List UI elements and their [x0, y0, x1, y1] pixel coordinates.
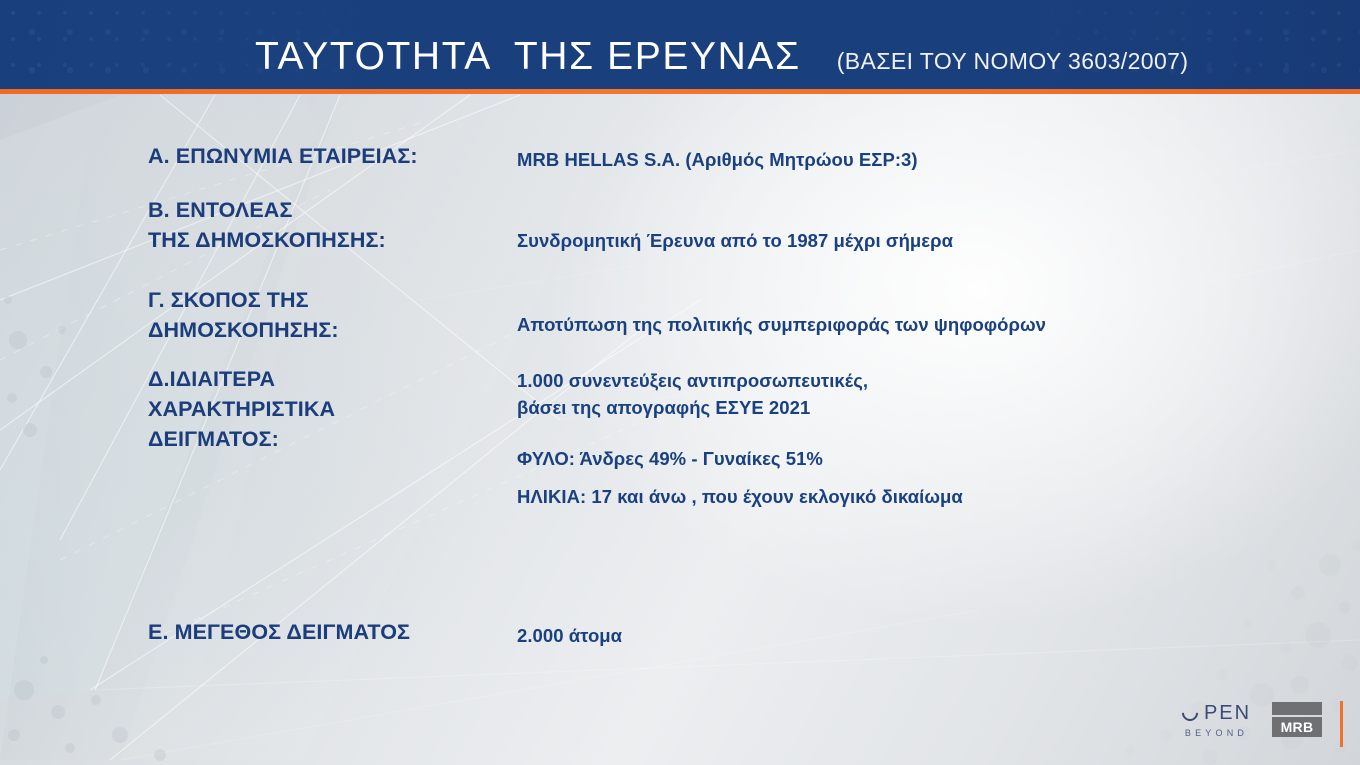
mrb-logo-bar: [1272, 702, 1322, 715]
page-subtitle: (ΒΑΣΕΙ ΤΟΥ ΝΟΜΟΥ 3603/2007): [837, 50, 1189, 73]
open-letters: PEN: [1204, 702, 1251, 725]
row-label-client: Β. ΕΝΤΟΛΕΑΣ ΤΗΣ ΔΗΜΟΣΚΟΠΗΣΗΣ:: [148, 195, 386, 255]
row-label-company: Α. ΕΠΩΝΥΜΙΑ ΕΤΑΙΡΕΙΑΣ:: [148, 141, 418, 171]
open-o-icon: [1179, 702, 1202, 725]
row-label-sample-characteristics: Δ.ΙΔΙΑΙΤΕΡΑ ΧΑΡΑΚΤΗΡΙΣΤΙΚΑ ΔΕΙΓΜΑΤΟΣ:: [148, 364, 335, 454]
content-area: Α. ΕΠΩΝΥΜΙΑ ΕΤΑΙΡΕΙΑΣ: MRB HELLAS S.A. (…: [0, 89, 1360, 765]
header-title-group: ΤΑΥΤΟΤΗΤΑ ΤΗΣ ΕΡΕΥΝΑΣ (ΒΑΣΕΙ ΤΟΥ ΝΟΜΟΥ 3…: [255, 37, 1188, 76]
logo-group: PEN BEYOND MRB: [1150, 694, 1350, 756]
row-value-sample-characteristics: 1.000 συνεντεύξεις αντιπροσωπευτικές, βά…: [517, 367, 868, 421]
row-value-company: MRB HELLAS S.A. (Αριθμός Μητρώου ΕΣΡ:3): [517, 146, 918, 173]
row-value-gender: ΦΥΛΟ: Άνδρες 49% - Γυναίκες 51%: [517, 445, 823, 472]
open-wordmark: PEN: [1164, 702, 1269, 724]
row-label-purpose: Γ. ΣΚΟΠΟΣ ΤΗΣ ΔΗΜΟΣΚΟΠΗΣΗΣ:: [148, 285, 339, 345]
row-value-sample-size: 2.000 άτομα: [517, 622, 622, 649]
mrb-logo-block: MRB: [1272, 717, 1322, 737]
row-label-sample-size: Ε. ΜΕΓΕΘΟΣ ΔΕΙΓΜΑΤΟΣ: [148, 617, 410, 647]
row-value-age: ΗΛΙΚΙΑ: 17 και άνω , που έχουν εκλογικό …: [517, 483, 963, 510]
orange-accent-tick: [1340, 701, 1343, 747]
page-title: ΤΑΥΤΟΤΗΤΑ ΤΗΣ ΕΡΕΥΝΑΣ: [255, 37, 801, 76]
row-value-purpose: Αποτύπωση της πολιτικής συμπεριφοράς των…: [517, 311, 1046, 338]
slide-root: ΤΑΥΤΟΤΗΤΑ ΤΗΣ ΕΡΕΥΝΑΣ (ΒΑΣΕΙ ΤΟΥ ΝΟΜΟΥ 3…: [0, 0, 1360, 765]
row-value-client: Συνδρομητική Έρευνα από το 1987 μέχρι σή…: [517, 227, 953, 254]
open-tagline: BEYOND: [1164, 728, 1269, 738]
open-beyond-logo: PEN BEYOND: [1164, 702, 1269, 738]
mrb-logo: MRB: [1272, 702, 1322, 737]
mrb-logo-text: MRB: [1281, 720, 1314, 734]
